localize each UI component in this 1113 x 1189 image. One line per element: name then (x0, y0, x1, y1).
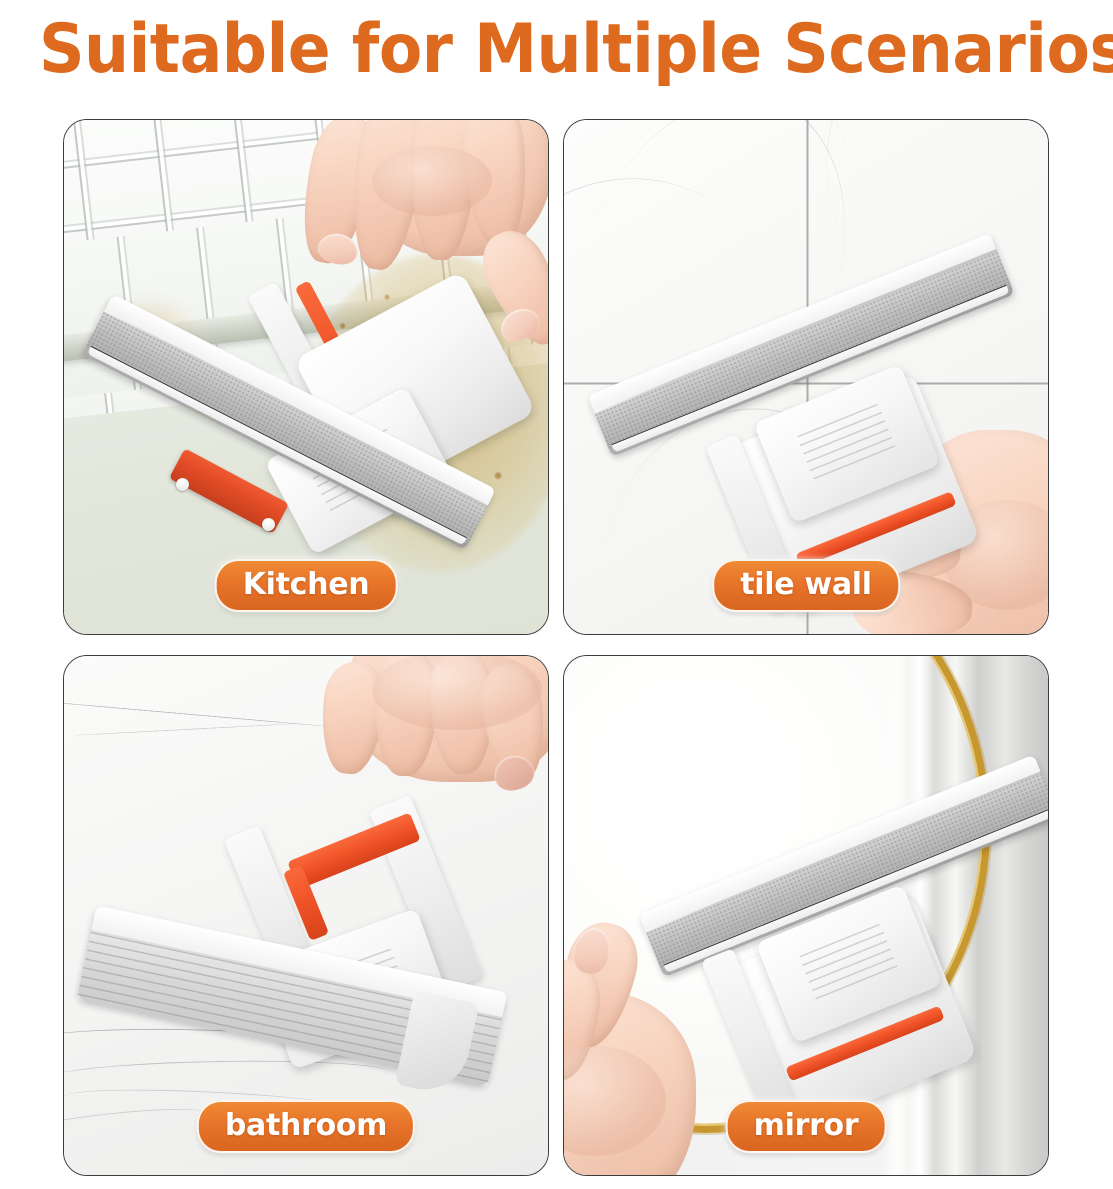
grip-texture-lines (796, 403, 897, 484)
page-title: Suitable for Multiple Scenarios (39, 10, 1074, 90)
scene-bathroom (64, 656, 548, 1175)
panel-cell-tile-wall: tile wall (556, 119, 1049, 642)
badge-kitchen: Kitchen (215, 559, 398, 612)
grip-texture-lines (798, 923, 899, 1004)
scenario-panel-mirror[interactable]: mirror (563, 655, 1049, 1176)
badge-mirror: mirror (726, 1100, 887, 1153)
panel-cell-kitchen: Kitchen (63, 119, 556, 642)
badge-tile-wall: tile wall (712, 559, 900, 612)
squeegee-tool-mirror (606, 724, 1048, 1144)
scene-tile-wall (564, 120, 1048, 634)
knuckle-shading (372, 146, 492, 216)
scenario-grid: Kitchen (63, 119, 1049, 1176)
badge-bathroom: bathroom (197, 1100, 415, 1153)
scene-kitchen (64, 120, 548, 634)
panel-cell-bathroom: bathroom (63, 642, 556, 1176)
scenario-panel-kitchen[interactable]: Kitchen (63, 119, 549, 635)
scene-mirror (564, 656, 1048, 1175)
panel-cell-mirror: mirror (556, 642, 1049, 1176)
squeegee-tool-bathroom (74, 748, 544, 1138)
scenario-panel-tile-wall[interactable]: tile wall (563, 119, 1049, 635)
scenario-panel-bathroom[interactable]: bathroom (63, 655, 549, 1176)
